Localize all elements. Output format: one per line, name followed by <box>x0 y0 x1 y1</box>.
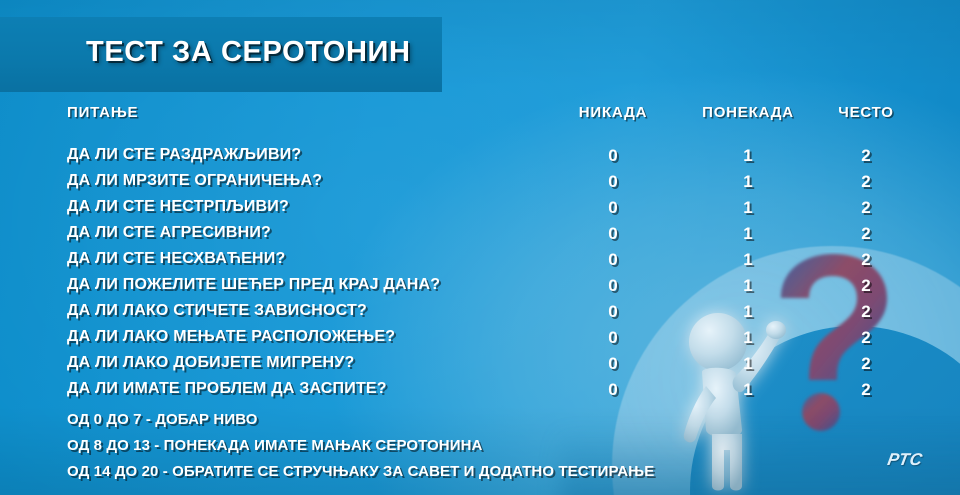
table-cell-never: 0 <box>608 250 617 270</box>
table-cell-often: 2 <box>861 328 870 348</box>
table-cell-sometimes: 1 <box>743 172 752 192</box>
broadcast-slide: ТЕСТ ЗА СЕРОТОНИН ПИТАЊЕ НИКАДА ПОНЕКАДА… <box>0 0 960 495</box>
table-cell-often: 2 <box>861 250 870 270</box>
table-row: ДА ЛИ СТЕ НЕСХВАЋЕНИ? <box>67 250 285 268</box>
table-cell-often: 2 <box>861 172 870 192</box>
table-cell-never: 0 <box>608 354 617 374</box>
table-cell-never: 0 <box>608 172 617 192</box>
table-cell-sometimes: 1 <box>743 302 752 322</box>
table-cell-sometimes: 1 <box>743 328 752 348</box>
column-header-never: НИКАДА <box>579 104 647 121</box>
score-legend-line-mid: ОД 8 ДО 13 - ПОНЕКАДА ИМАТЕ МАЊАК СЕРОТО… <box>67 437 482 454</box>
table-cell-never: 0 <box>608 146 617 166</box>
table-cell-often: 2 <box>861 302 870 322</box>
table-row: ДА ЛИ ЛАКО МЕЊАТЕ РАСПОЛОЖЕЊЕ? <box>67 328 395 346</box>
table-cell-never: 0 <box>608 328 617 348</box>
score-legend-line-low: ОД 0 ДО 7 - ДОБАР НИВО <box>67 411 258 428</box>
table-row: ДА ЛИ СТЕ РАЗДРАЖЉИВИ? <box>67 146 301 164</box>
table-cell-never: 0 <box>608 224 617 244</box>
table-row: ДА ЛИ МРЗИТЕ ОГРАНИЧЕЊА? <box>67 172 322 190</box>
table-cell-often: 2 <box>861 276 870 296</box>
table-row: ДА ЛИ СТЕ НЕСТРПЉИВИ? <box>67 198 289 216</box>
table-cell-often: 2 <box>861 380 870 400</box>
table-cell-sometimes: 1 <box>743 276 752 296</box>
table-cell-sometimes: 1 <box>743 250 752 270</box>
column-header-question: ПИТАЊЕ <box>67 104 138 121</box>
table-cell-sometimes: 1 <box>743 146 752 166</box>
table-cell-often: 2 <box>861 224 870 244</box>
table-cell-never: 0 <box>608 276 617 296</box>
table-cell-often: 2 <box>861 354 870 374</box>
table-cell-sometimes: 1 <box>743 198 752 218</box>
table-row: ДА ЛИ ИМАТЕ ПРОБЛЕМ ДА ЗАСПИТЕ? <box>67 380 387 398</box>
table-cell-sometimes: 1 <box>743 354 752 374</box>
table-cell-never: 0 <box>608 380 617 400</box>
table-cell-often: 2 <box>861 146 870 166</box>
table-cell-never: 0 <box>608 198 617 218</box>
table-row: ДА ЛИ ЛАКО ДОБИЈЕТЕ МИГРЕНУ? <box>67 354 354 372</box>
table-row: ДА ЛИ СТЕ АГРЕСИВНИ? <box>67 224 271 242</box>
table-cell-never: 0 <box>608 302 617 322</box>
table-cell-sometimes: 1 <box>743 224 752 244</box>
rts-logo: РТС <box>886 450 924 470</box>
table-cell-sometimes: 1 <box>743 380 752 400</box>
table-row: ДА ЛИ ЛАКО СТИЧЕТЕ ЗАВИСНОСТ? <box>67 302 367 320</box>
table-row: ДА ЛИ ПОЖЕЛИТЕ ШЕЋЕР ПРЕД КРАЈ ДАНА? <box>67 276 440 294</box>
score-legend-line-high: ОД 14 ДО 20 - ОБРАТИТЕ СЕ СТРУЧЊАКУ ЗА С… <box>67 463 654 480</box>
table-cell-often: 2 <box>861 198 870 218</box>
column-header-often: ЧЕСТО <box>838 104 893 121</box>
column-header-sometimes: ПОНЕКАДА <box>702 104 794 121</box>
